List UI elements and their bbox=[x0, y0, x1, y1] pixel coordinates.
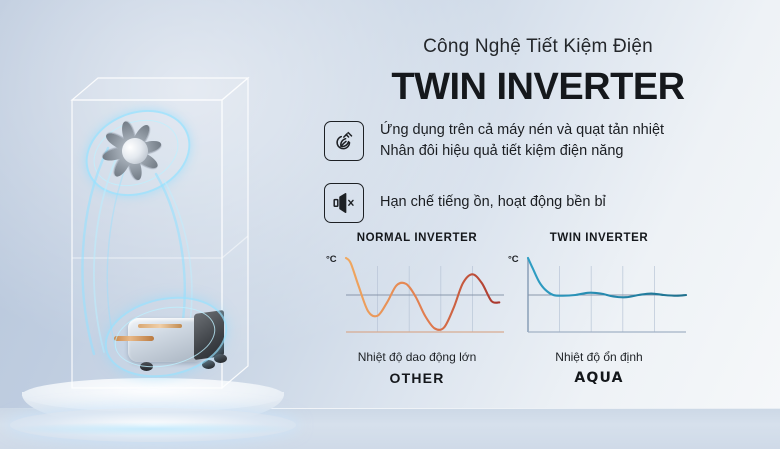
chart-svg bbox=[324, 252, 510, 344]
chart-brand-label: OTHER bbox=[324, 370, 510, 386]
chart-twin-inverter: TWIN INVERTER °C bbox=[506, 232, 692, 386]
eco-plug-icon bbox=[324, 121, 364, 161]
content-panel: Công Nghệ Tiết Kiệm Điện TWIN INVERTER Ứ… bbox=[316, 0, 780, 449]
chart-caption: Nhiệt độ ổn định bbox=[506, 350, 692, 364]
compressor-foot bbox=[214, 354, 227, 363]
comparison-charts: NORMAL INVERTER °C bbox=[316, 232, 780, 402]
promo-banner: Công Nghệ Tiết Kiệm Điện TWIN INVERTER Ứ… bbox=[0, 0, 780, 449]
chart-title: NORMAL INVERTER bbox=[324, 232, 510, 244]
chart-y-axis-label: °C bbox=[326, 254, 337, 265]
speaker-mute-icon bbox=[324, 183, 364, 223]
chart-plot-area: °C bbox=[324, 252, 510, 344]
chart-caption: Nhiệt độ dao động lớn bbox=[324, 350, 510, 364]
chart-brand-label: AQUA bbox=[506, 370, 692, 386]
chart-normal-inverter: NORMAL INVERTER °C bbox=[324, 232, 510, 386]
page-title: TWIN INVERTER bbox=[318, 66, 758, 109]
product-illustration bbox=[0, 0, 320, 449]
chart-title: TWIN INVERTER bbox=[506, 232, 692, 244]
chart-svg bbox=[506, 252, 692, 344]
feature-row-eco: Ứng dụng trên cả máy nén và quạt tản nhi… bbox=[324, 120, 664, 162]
chart-y-axis-label: °C bbox=[508, 254, 519, 265]
feature-text: Ứng dụng trên cả máy nén và quạt tản nhi… bbox=[380, 120, 664, 162]
eyebrow-text: Công Nghệ Tiết Kiệm Điện bbox=[318, 36, 758, 58]
feature-text: Hạn chế tiếng ồn, hoạt động bền bỉ bbox=[380, 192, 606, 213]
chart-plot-area: °C bbox=[506, 252, 692, 344]
podium-under-glow bbox=[8, 422, 298, 436]
feature-row-quiet: Hạn chế tiếng ồn, hoạt động bền bỉ bbox=[324, 183, 606, 223]
